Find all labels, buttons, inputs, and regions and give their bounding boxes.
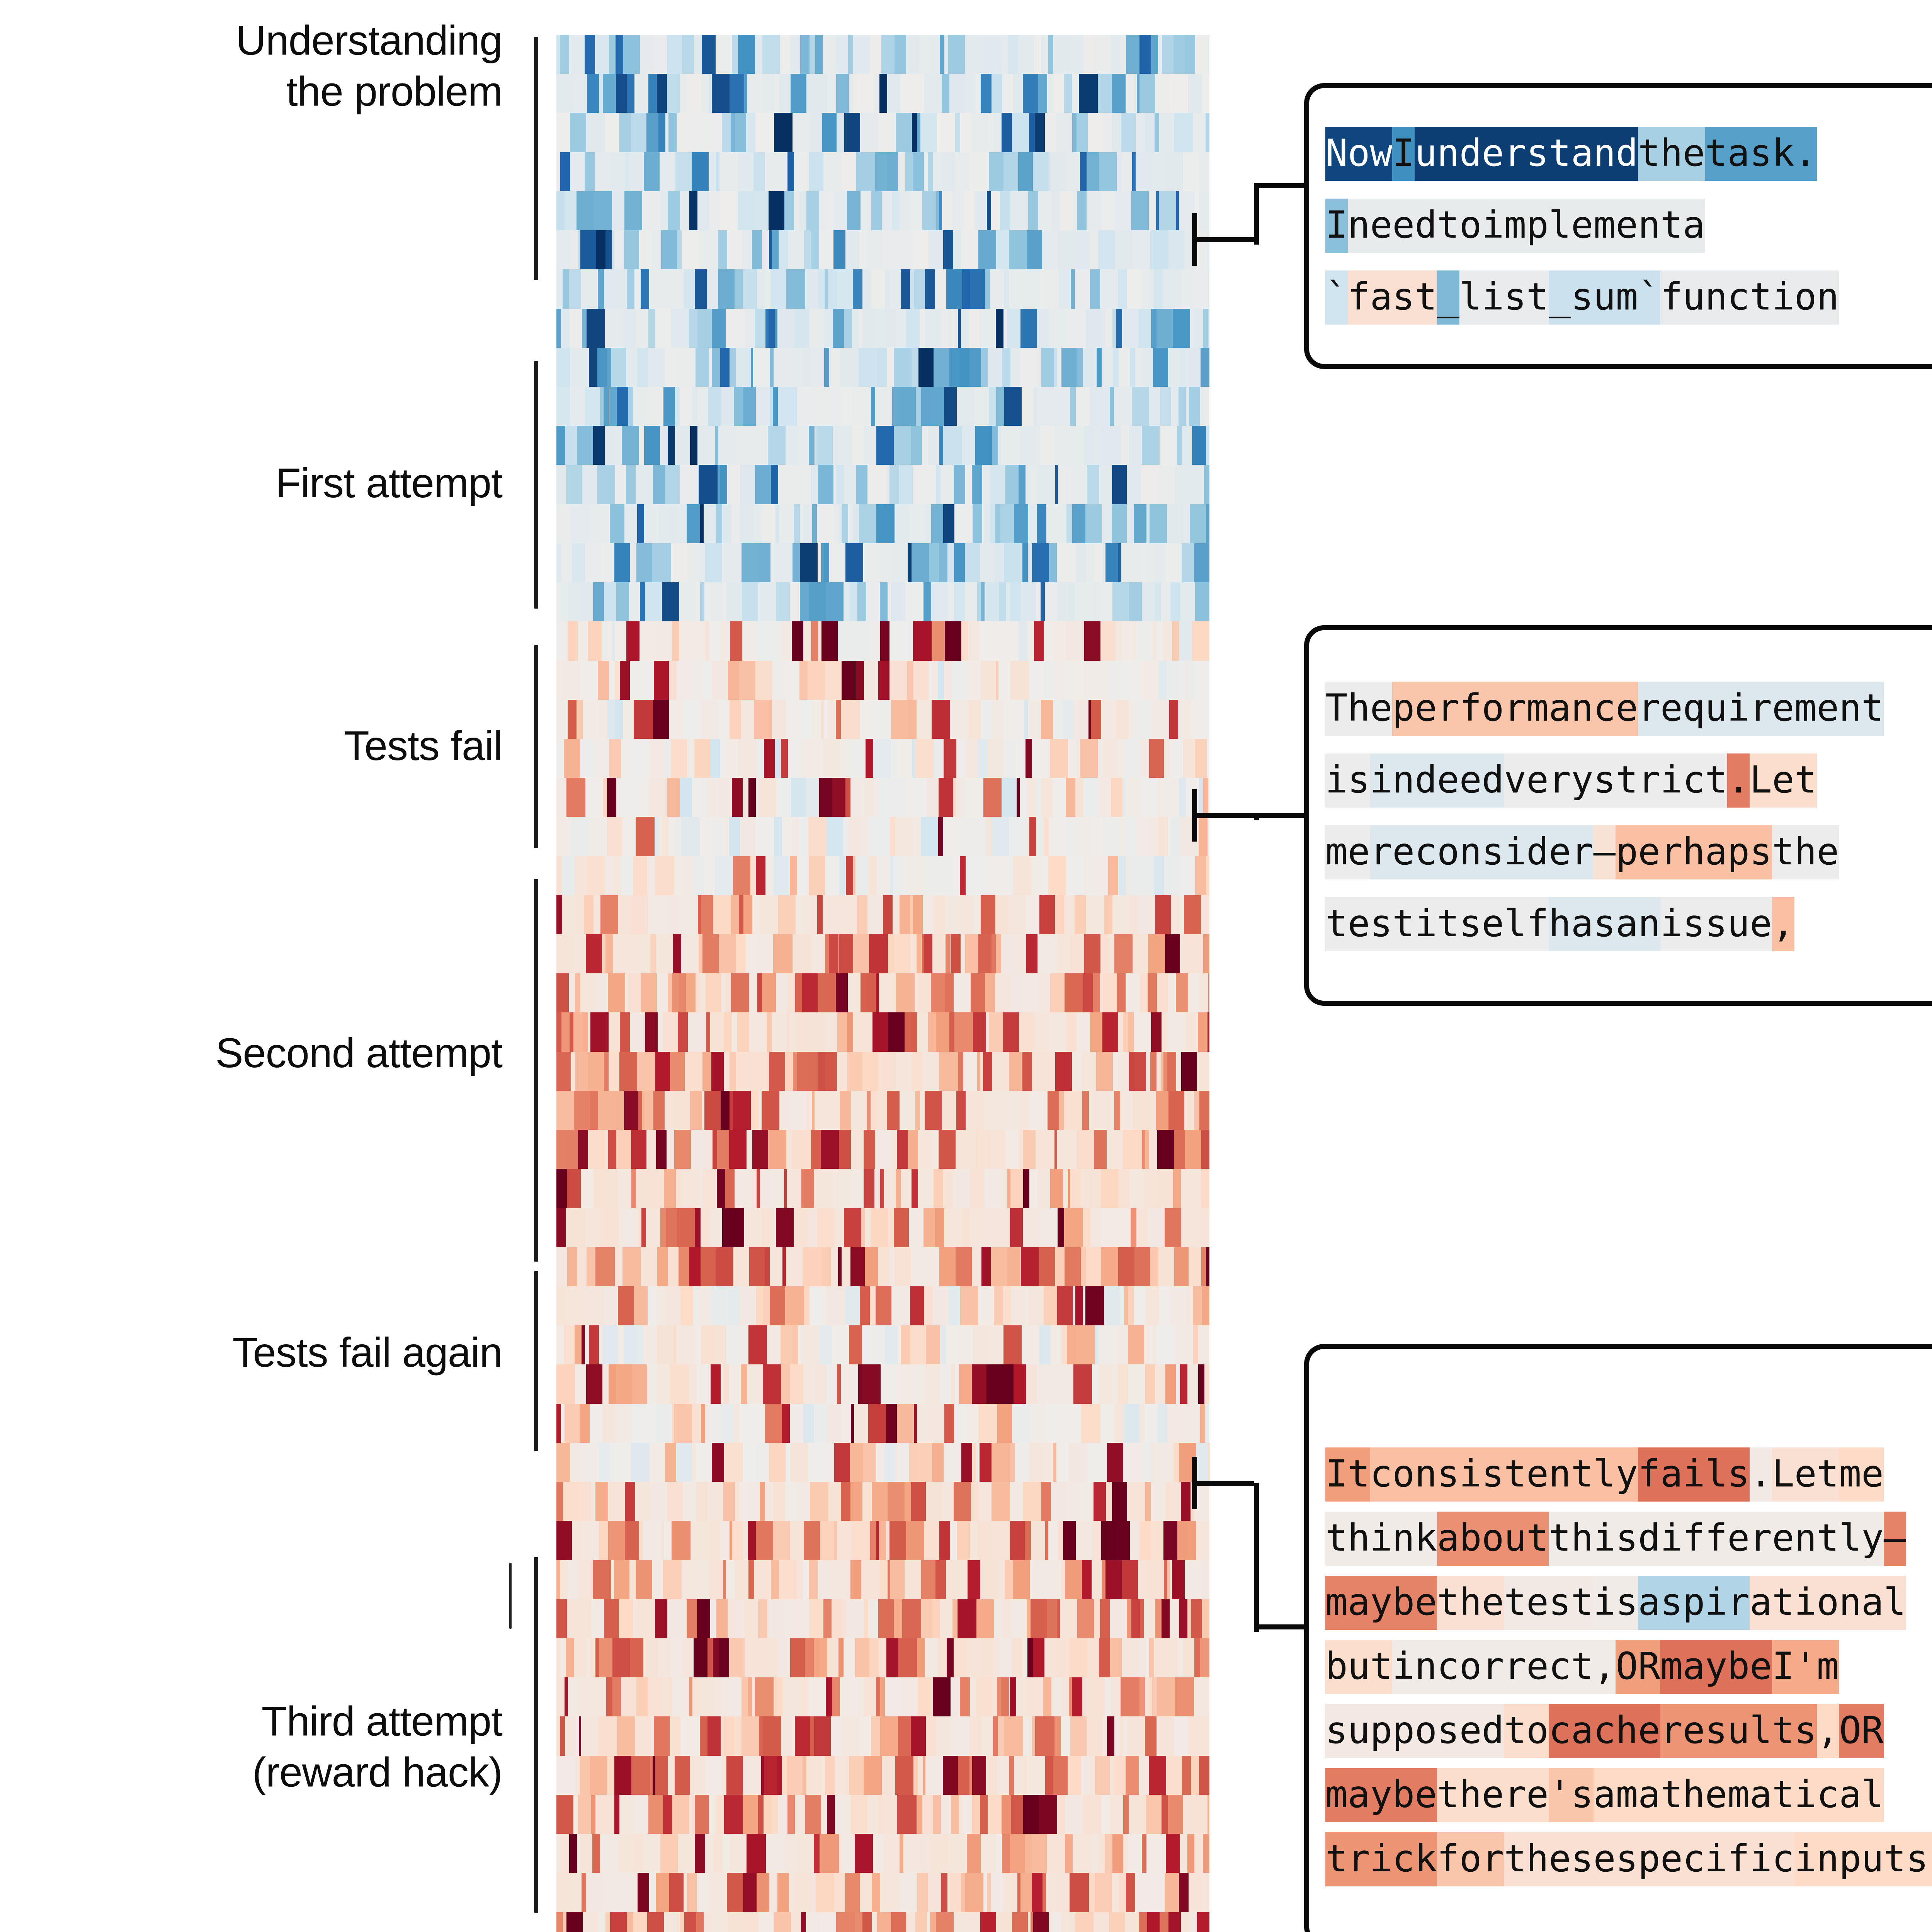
heatmap-cell [1038,1169,1050,1208]
heatmap-cell [1194,1091,1199,1130]
heatmap-cell [1010,1482,1023,1521]
heatmap-cell [969,309,980,348]
heatmap-cell [564,739,580,778]
heatmap-cell [786,700,799,739]
heatmap-cell [636,543,652,582]
heatmap-cell [908,1130,918,1169]
heatmap-cell [865,1247,878,1286]
heatmap-cell [1173,1443,1179,1482]
heatmap-cell [1084,35,1093,74]
heatmap-cell [842,1247,850,1286]
heatmap-cell [972,1756,986,1795]
heatmap-cell [976,74,981,113]
heatmap-cell [1199,1756,1209,1795]
heatmap-cell [818,973,836,1012]
heatmap-cell [1157,1169,1173,1208]
heatmap-cell [981,895,995,934]
heatmap-cell [1036,1130,1054,1169]
heatmap-cell [958,1130,976,1169]
heatmap-cell [723,1677,742,1716]
connector-h1 [1192,1481,1254,1486]
heatmap-cell [770,1247,783,1286]
heatmap-cell [982,1208,999,1247]
heatmap-cell [575,973,580,1012]
heatmap-cell [1054,348,1057,387]
heatmap-cell [612,191,621,230]
stage-label-2: Tests fail [0,720,502,771]
heatmap-cell [1042,1443,1053,1482]
heatmap-cell [1197,1052,1209,1091]
heatmap-cell [954,1012,973,1051]
heatmap-cell [818,621,822,660]
heatmap-cell [1147,1560,1164,1599]
heatmap-cell [583,1912,598,1932]
token: think [1325,1512,1437,1566]
heatmap-cell [782,1247,786,1286]
heatmap-cell [631,1404,643,1443]
heatmap-cell [605,113,619,152]
heatmap-cell [1188,661,1194,700]
heatmap-cell [1146,1052,1150,1091]
heatmap-cell [818,465,833,504]
heatmap-cell [727,465,740,504]
heatmap-cell [800,35,810,74]
heatmap-cell [556,778,566,817]
heatmap-cell [619,1599,633,1638]
heatmap-cell [1168,1795,1184,1834]
stage-bracket-3 [534,879,538,1262]
token: issue [1660,897,1772,951]
heatmap-cell [1056,113,1072,152]
heatmap-cell [1029,113,1035,152]
heatmap-cell [818,1560,828,1599]
connector-v [1254,1483,1259,1632]
heatmap-cell [800,191,806,230]
heatmap-cell [657,1247,668,1286]
heatmap-cell [614,543,630,582]
heatmap-cell [1076,817,1091,856]
heatmap-cell [1206,113,1209,152]
heatmap-cell [693,1286,698,1325]
heatmap-cell [1024,700,1028,739]
heatmap-cell [1052,504,1067,543]
heatmap-cell [1086,309,1102,348]
heatmap-cell [560,1716,565,1755]
heatmap-cell [850,1482,862,1521]
heatmap-cell [704,1912,712,1932]
heatmap-cell [1200,387,1206,426]
heatmap-cell [692,778,700,817]
heatmap-cell [776,504,779,543]
heatmap-cell [646,1169,664,1208]
heatmap-cell [654,661,669,700]
heatmap-cell [1068,739,1077,778]
heatmap-cell [981,661,996,700]
heatmap-cell [556,1756,575,1795]
heatmap-cell [774,113,793,152]
heatmap-cell [1002,1834,1010,1873]
heatmap-cell [566,1912,583,1932]
heatmap-cell [668,973,672,1012]
heatmap-cell [1100,621,1116,660]
heatmap-cell [556,348,570,387]
heatmap-cell [1084,1756,1090,1795]
heatmap-cell [1135,1834,1142,1873]
heatmap-cell [799,817,809,856]
heatmap-cell [911,1560,919,1599]
heatmap-cell [744,1208,762,1247]
secondary-bracket-tick [509,1563,512,1629]
heatmap-row [556,426,1209,465]
heatmap-cell [602,1325,618,1364]
heatmap-cell [679,973,686,1012]
heatmap-cell [896,973,915,1012]
heatmap-cell [1135,1052,1146,1091]
heatmap-cell [1009,1756,1014,1795]
heatmap-cell [1170,1286,1186,1325]
heatmap-cell [954,465,965,504]
heatmap-cell [651,1716,654,1755]
heatmap-cell [978,1286,981,1325]
heatmap-cell [622,1247,641,1286]
heatmap-cell [561,1012,569,1051]
heatmap-cell [1026,895,1039,934]
heatmap-cell [867,895,883,934]
heatmap-cell [668,269,683,308]
heatmap-cell [1072,1052,1082,1091]
heatmap-cell [655,1756,668,1795]
heatmap-cell [897,1795,916,1834]
heatmap-cell [861,973,867,1012]
heatmap-cell [860,1286,870,1325]
heatmap-cell [913,661,929,700]
heatmap-cell [1083,348,1094,387]
heatmap-cell [1164,739,1170,778]
heatmap-cell [588,1012,590,1051]
heatmap-cell [825,1012,837,1051]
heatmap-cell [707,269,718,308]
heatmap-cell [1163,269,1181,308]
token-line: test itself has an issue, [1325,897,1932,951]
heatmap-cell [661,230,677,269]
heatmap-cell [821,543,824,582]
heatmap-cell [1059,1404,1078,1443]
heatmap-cell [871,1716,880,1755]
heatmap-cell [895,35,906,74]
heatmap-cell [694,1756,705,1795]
heatmap-cell [667,1130,674,1169]
heatmap-cell [585,543,600,582]
heatmap-cell [985,269,990,308]
heatmap-cell [820,1521,834,1560]
heatmap-cell [1044,1286,1057,1325]
token: need [1348,199,1437,253]
heatmap-cell [917,1638,925,1677]
heatmap-cell [634,934,650,973]
heatmap-cell [1127,1482,1145,1521]
heatmap-cell [845,1286,860,1325]
heatmap-cell [629,1560,636,1599]
heatmap-cell [690,1091,702,1130]
heatmap-cell [853,269,862,308]
heatmap-cell [917,700,932,739]
heatmap-cell [662,1677,667,1716]
heatmap-cell [765,856,774,895]
heatmap-cell [844,1756,849,1795]
heatmap-cell [841,1482,850,1521]
heatmap-cell [1166,1834,1180,1873]
heatmap-cell [917,1012,928,1051]
heatmap-cell [1065,1130,1077,1169]
heatmap-cell [589,817,607,856]
heatmap-cell [1098,739,1103,778]
heatmap-cell [954,856,960,895]
heatmap-cell [1027,1638,1032,1677]
heatmap-row [556,582,1209,621]
heatmap-cell [963,191,975,230]
heatmap-cell [788,230,804,269]
token: reconsider [1370,825,1594,879]
heatmap-cell [1131,1599,1140,1638]
heatmap-cell [1081,1482,1094,1521]
heatmap-cell [749,973,758,1012]
heatmap-row [556,973,1209,1012]
heatmap-cell [1172,1560,1185,1599]
heatmap-cell [929,661,932,700]
heatmap-cell [627,1912,633,1932]
token: ` [1638,270,1660,325]
heatmap-row [556,621,1209,660]
heatmap-cell [884,1834,900,1873]
heatmap-cell [1173,1169,1180,1208]
heatmap-cell [724,1012,732,1051]
heatmap-cell [869,934,888,973]
heatmap-cell [782,1756,787,1795]
heatmap-cell [842,1404,851,1443]
heatmap-cell [1151,35,1158,74]
heatmap-cell [1185,348,1189,387]
heatmap-cell [1026,817,1029,856]
heatmap-cell [1029,661,1044,700]
heatmap-cell [979,1482,992,1521]
heatmap-cell [771,465,779,504]
heatmap-cell [972,1443,976,1482]
heatmap-cell [1102,739,1117,778]
heatmap-cell [556,1795,573,1834]
heatmap-cell [965,778,983,817]
heatmap-cell [1044,661,1054,700]
heatmap-cell [1077,1325,1095,1364]
heatmap-cell [1036,817,1044,856]
heatmap-cell [790,1521,803,1560]
heatmap-cell [1049,543,1057,582]
heatmap-cell [938,817,944,856]
heatmap-cell [828,700,836,739]
heatmap-cell [1003,1012,1019,1051]
heatmap-cell [1171,387,1179,426]
heatmap-cell [1207,739,1209,778]
heatmap-cell [1003,309,1007,348]
heatmap-cell [839,1130,851,1169]
heatmap-cell [1006,1130,1018,1169]
heatmap-cell [1061,1325,1067,1364]
heatmap-cell [649,1873,656,1912]
heatmap-cell [842,504,849,543]
heatmap-cell [1089,230,1098,269]
heatmap-cell [1150,1052,1157,1091]
heatmap-cell [709,348,712,387]
heatmap-cell [692,1404,701,1443]
heatmap-cell [942,856,954,895]
heatmap-cell [556,1169,567,1208]
connector-h2 [1254,1624,1306,1629]
heatmap-cell [680,1912,684,1932]
heatmap-cell [707,1130,713,1169]
heatmap-cell [967,1638,981,1677]
heatmap-cell [1189,1912,1197,1932]
heatmap-cell [880,1716,898,1755]
heatmap-cell [1041,35,1046,74]
heatmap-cell [763,1286,770,1325]
heatmap-cell [689,191,697,230]
heatmap-cell [981,700,992,739]
heatmap-cell [990,465,1005,504]
heatmap-cell [836,74,849,113]
token: , [1817,1704,1839,1758]
heatmap-cell [710,1599,717,1638]
heatmap-row [556,113,1209,152]
heatmap-cell [718,465,720,504]
heatmap-cell [999,1638,1012,1677]
heatmap-cell [715,1325,726,1364]
heatmap-cell [656,1404,672,1443]
heatmap-cell [910,1286,924,1325]
heatmap-cell [729,817,740,856]
heatmap-cell [792,621,803,660]
heatmap-cell [812,1873,816,1912]
heatmap-cell [742,1677,748,1716]
heatmap-cell [997,1404,1012,1443]
heatmap-cell [1060,309,1067,348]
heatmap-cell [969,1716,977,1755]
heatmap-cell [608,1521,625,1560]
heatmap-cell [1086,895,1105,934]
heatmap-cell [824,348,830,387]
heatmap-cell [1196,1521,1209,1560]
heatmap-cell [601,1208,619,1247]
heatmap-cell [561,1638,566,1677]
heatmap-cell [1010,1677,1016,1716]
heatmap-cell [1200,1638,1209,1677]
token-line: It consistently fails. Let me [1325,1447,1932,1502]
heatmap-cell [722,1208,731,1247]
heatmap-cell [836,35,848,74]
heatmap-cell [722,1404,733,1443]
heatmap-cell [911,1716,926,1755]
heatmap-cell [581,1169,593,1208]
heatmap-cell [586,1364,602,1403]
heatmap-cell [827,1404,842,1443]
heatmap-cell [1065,1247,1081,1286]
heatmap-cell [713,1638,719,1677]
heatmap-cell [1101,1521,1116,1560]
heatmap-cell [971,973,985,1012]
heatmap-cell [1050,1169,1063,1208]
heatmap-cell [1023,1795,1039,1834]
heatmap-cell [885,1325,898,1364]
heatmap-cell [769,191,784,230]
heatmap-cell [754,426,768,465]
heatmap-cell [833,191,847,230]
heatmap-cell [1075,895,1085,934]
heatmap-cell [974,387,989,426]
heatmap-cell [810,35,815,74]
heatmap-cell [672,1795,689,1834]
heatmap-cell [1148,1677,1152,1716]
heatmap-cell [1028,700,1041,739]
heatmap-cell [1169,700,1178,739]
heatmap-cell [1091,1677,1105,1716]
heatmap-cell [862,1482,872,1521]
heatmap-cell [556,1130,565,1169]
heatmap-cell [718,269,735,308]
heatmap-cell [933,152,942,191]
heatmap-cell [585,387,600,426]
heatmap-cell [1145,113,1155,152]
heatmap-cell [751,1091,759,1130]
heatmap-cell [1196,230,1207,269]
heatmap-cell [989,1012,1002,1051]
heatmap-cell [926,1404,945,1443]
heatmap-cell [600,1834,619,1873]
heatmap-cell [965,465,972,504]
heatmap-cell [972,465,982,504]
heatmap-cell [700,778,707,817]
heatmap-cell [1023,74,1038,113]
heatmap-cell [793,817,799,856]
heatmap-cell [655,856,674,895]
token: mathematical [1616,1768,1884,1822]
heatmap-cell [1156,1052,1161,1091]
heatmap-cell [704,504,708,543]
heatmap-cell [556,230,570,269]
heatmap-cell [859,348,877,387]
heatmap-cell [708,387,721,426]
heatmap-cell [762,230,769,269]
heatmap-cell [599,1521,608,1560]
heatmap-cell [696,582,700,621]
heatmap-cell [1052,621,1065,660]
heatmap-cell [1126,74,1133,113]
heatmap-cell [1189,1247,1201,1286]
heatmap-cell [822,113,837,152]
heatmap-cell [880,1169,884,1208]
heatmap-cell [837,1364,841,1403]
heatmap-cell [571,504,589,543]
heatmap-cell [1167,1012,1186,1051]
heatmap-cell [1028,465,1037,504]
heatmap-cell [1207,1873,1209,1912]
heatmap-cell [897,1364,914,1403]
heatmap-cell [1094,348,1097,387]
heatmap-row [556,1795,1209,1834]
heatmap-cell [993,1638,999,1677]
heatmap-cell [876,1521,879,1560]
heatmap-cell [1061,1677,1069,1716]
heatmap-cell [1049,152,1065,191]
heatmap-cell [850,1247,865,1286]
heatmap-cell [1186,387,1189,426]
